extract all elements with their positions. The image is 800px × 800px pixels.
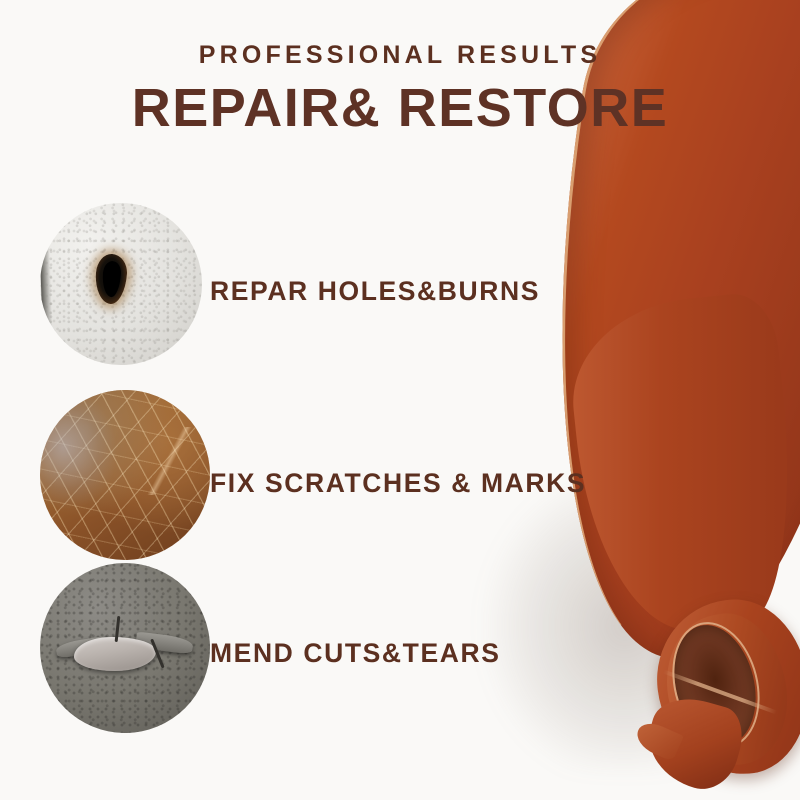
tear-exposed-backing [74,637,157,672]
feature-label: FIX SCRATCHES & MARKS [210,468,586,499]
feature-row: MEND CUTS&TEARS [40,563,640,723]
leather-crease [132,427,207,495]
feature-label: MEND CUTS&TEARS [210,638,500,669]
brown-leather-scratches-photo [40,390,210,560]
page-title: REPAIR& RESTORE [0,77,800,139]
grey-leather-tear-photo [40,563,210,733]
eyebrow-text: PROFESSIONAL RESULTS [0,41,800,70]
tear-icon [54,624,197,680]
feature-row: REPAR HOLES&BURNS [40,203,640,363]
ad-canvas: PROFESSIONAL RESULTS REPAIR& RESTORE REP… [0,0,800,800]
white-leather-burn-hole-photo [40,203,202,365]
feature-row: FIX SCRATCHES & MARKS [40,390,640,550]
feature-label: REPAR HOLES&BURNS [210,276,540,307]
